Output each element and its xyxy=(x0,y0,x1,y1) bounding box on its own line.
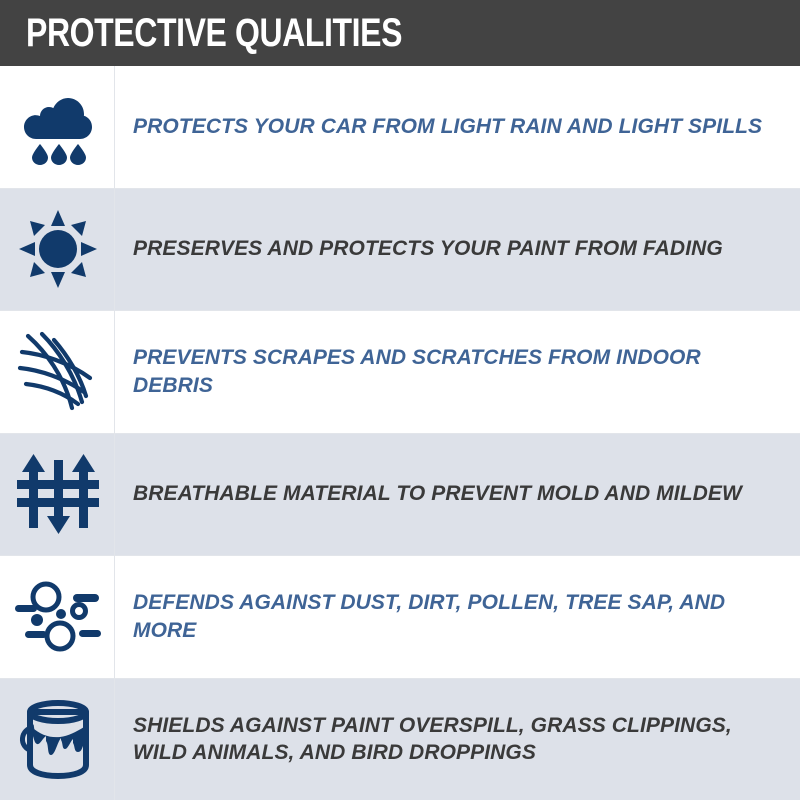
sun-icon xyxy=(17,208,99,290)
icon-cell-paint xyxy=(0,679,115,800)
feature-text-breathable: BREATHABLE MATERIAL TO PREVENT MOLD AND … xyxy=(133,480,742,508)
feature-row-breathable: BREATHABLE MATERIAL TO PREVENT MOLD AND … xyxy=(0,434,800,557)
mesh-net-icon xyxy=(16,330,100,414)
text-cell-sun: PRESERVES AND PROTECTS YOUR PAINT FROM F… xyxy=(115,189,800,311)
dust-particles-icon xyxy=(13,578,103,656)
feature-row-sun: PRESERVES AND PROTECTS YOUR PAINT FROM F… xyxy=(0,189,800,312)
icon-cell-dust xyxy=(0,556,115,678)
feature-rows: PROTECTS YOUR CAR FROM LIGHT RAIN AND LI… xyxy=(0,66,800,800)
feature-text-rain: PROTECTS YOUR CAR FROM LIGHT RAIN AND LI… xyxy=(133,113,762,141)
text-cell-breathable: BREATHABLE MATERIAL TO PREVENT MOLD AND … xyxy=(115,434,800,556)
rain-cloud-icon xyxy=(18,88,98,166)
protective-qualities-infographic: PROTECTIVE QUALITIES PROTECTS YOUR CAR F… xyxy=(0,0,800,800)
feature-text-sun: PRESERVES AND PROTECTS YOUR PAINT FROM F… xyxy=(133,235,723,263)
text-cell-scratches: PREVENTS SCRAPES AND SCRATCHES FROM INDO… xyxy=(115,311,800,433)
feature-text-paint: SHIELDS AGAINST PAINT OVERSPILL, GRASS C… xyxy=(133,712,778,767)
feature-row-paint: SHIELDS AGAINST PAINT OVERSPILL, GRASS C… xyxy=(0,679,800,800)
feature-text-scratches: PREVENTS SCRAPES AND SCRATCHES FROM INDO… xyxy=(133,344,778,399)
feature-row-rain: PROTECTS YOUR CAR FROM LIGHT RAIN AND LI… xyxy=(0,66,800,189)
airflow-arrows-icon xyxy=(15,452,101,536)
text-cell-paint: SHIELDS AGAINST PAINT OVERSPILL, GRASS C… xyxy=(115,679,800,800)
feature-row-dust: DEFENDS AGAINST DUST, DIRT, POLLEN, TREE… xyxy=(0,556,800,679)
icon-cell-sun xyxy=(0,189,115,311)
text-cell-rain: PROTECTS YOUR CAR FROM LIGHT RAIN AND LI… xyxy=(115,66,800,188)
feature-row-scratches: PREVENTS SCRAPES AND SCRATCHES FROM INDO… xyxy=(0,311,800,434)
page-title: PROTECTIVE QUALITIES xyxy=(26,13,402,53)
icon-cell-scratches xyxy=(0,311,115,433)
text-cell-dust: DEFENDS AGAINST DUST, DIRT, POLLEN, TREE… xyxy=(115,556,800,678)
feature-text-dust: DEFENDS AGAINST DUST, DIRT, POLLEN, TREE… xyxy=(133,589,778,644)
icon-cell-breathable xyxy=(0,434,115,556)
icon-cell-rain xyxy=(0,66,115,188)
infographic-header: PROTECTIVE QUALITIES xyxy=(0,0,800,66)
paint-can-icon xyxy=(16,697,100,781)
